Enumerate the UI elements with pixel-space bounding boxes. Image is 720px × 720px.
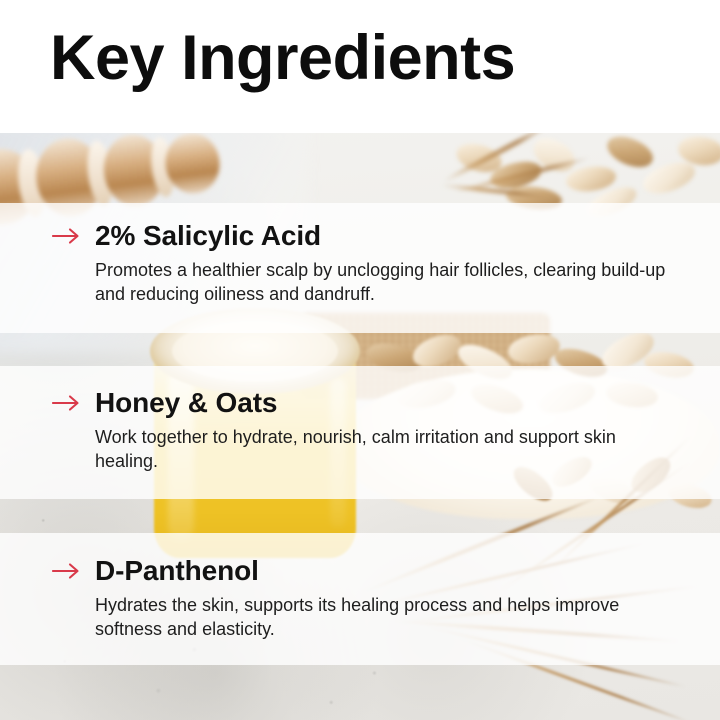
ingredient-description-3: Hydrates the skin, supports its healing … xyxy=(0,594,715,642)
ingredient-description-2: Work together to hydrate, nourish, calm … xyxy=(0,426,715,474)
arrow-right-icon xyxy=(52,393,82,413)
ingredient-block-3: D-Panthenol Hydrates the skin, supports … xyxy=(0,557,720,642)
ingredient-name-3: D-Panthenol xyxy=(95,557,259,585)
page-title: Key Ingredients xyxy=(50,24,515,92)
ingredient-heading-row-1: 2% Salicylic Acid xyxy=(0,222,720,250)
ingredient-block-2: Honey & Oats Work together to hydrate, n… xyxy=(0,389,720,474)
header: Key Ingredients xyxy=(0,0,720,133)
ingredient-block-1: 2% Salicylic Acid Promotes a healthier s… xyxy=(0,222,720,307)
arrow-right-icon xyxy=(52,561,82,581)
ingredient-heading-row-2: Honey & Oats xyxy=(0,389,720,417)
ingredients-infographic: Key Ingredients 2% Salicylic Acid Promot… xyxy=(0,0,720,720)
ingredient-description-1: Promotes a healthier scalp by unclogging… xyxy=(0,259,715,307)
ingredient-heading-row-3: D-Panthenol xyxy=(0,557,720,585)
ingredient-name-1: 2% Salicylic Acid xyxy=(95,222,321,250)
ingredient-name-2: Honey & Oats xyxy=(95,389,277,417)
arrow-right-icon xyxy=(52,226,82,246)
